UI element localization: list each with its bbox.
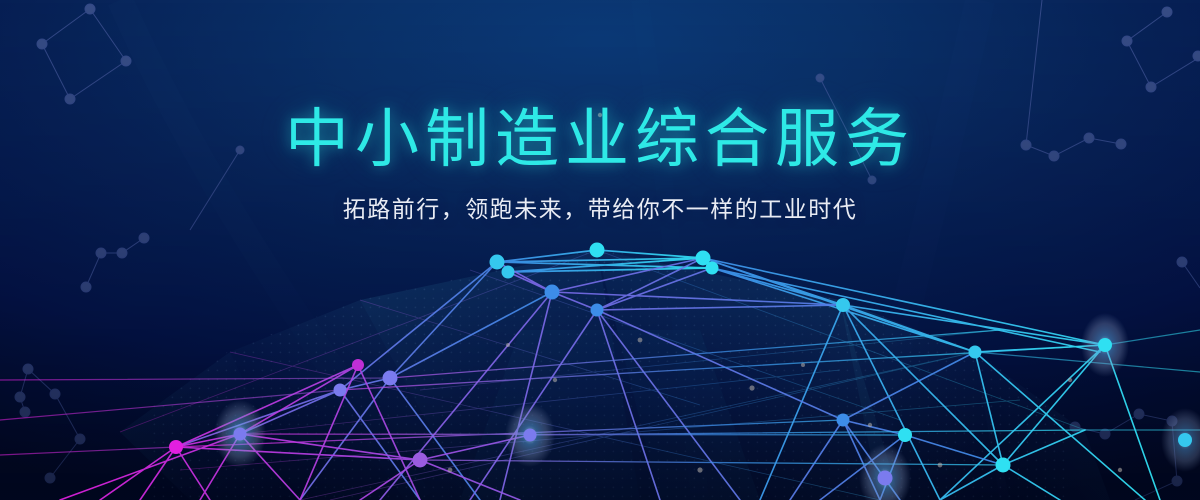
dome-edges (0, 250, 1200, 500)
hero-banner: 中小制造业综合服务 拓路前行，领跑未来，带给你不一样的工业时代 (0, 0, 1200, 500)
network-dome (0, 0, 1200, 500)
